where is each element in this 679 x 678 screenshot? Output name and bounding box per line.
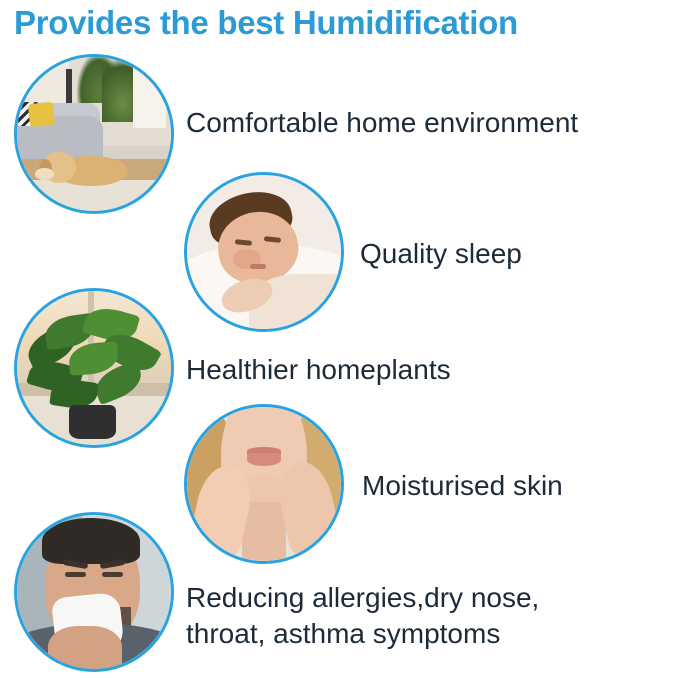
photo-inner-3	[17, 291, 171, 445]
photo-inner-4	[187, 407, 341, 561]
feature-label-comfortable-home: Comfortable home environment	[186, 105, 578, 141]
photo-inner-2	[187, 175, 341, 329]
infographic-page: Provides the best Humidification Comfort…	[0, 0, 679, 678]
feature-label-moisturised-skin: Moisturised skin	[362, 468, 563, 504]
feature-label-quality-sleep: Quality sleep	[360, 236, 522, 272]
photo-inner-1	[17, 57, 171, 211]
photo-inner-5	[17, 515, 171, 669]
sleeping-baby-photo	[184, 172, 344, 332]
living-room-with-dog-photo	[14, 54, 174, 214]
feature-label-reducing-allergies-line2: throat, asthma symptoms	[186, 616, 500, 652]
page-title: Provides the best Humidification	[14, 4, 664, 42]
woman-touching-face-photo	[184, 404, 344, 564]
feature-label-healthier-homeplants: Healthier homeplants	[186, 352, 451, 388]
feature-label-reducing-allergies-line1: Reducing allergies,dry nose,	[186, 580, 539, 616]
man-sneezing-into-tissue-photo	[14, 512, 174, 672]
houseplant-by-window-photo	[14, 288, 174, 448]
